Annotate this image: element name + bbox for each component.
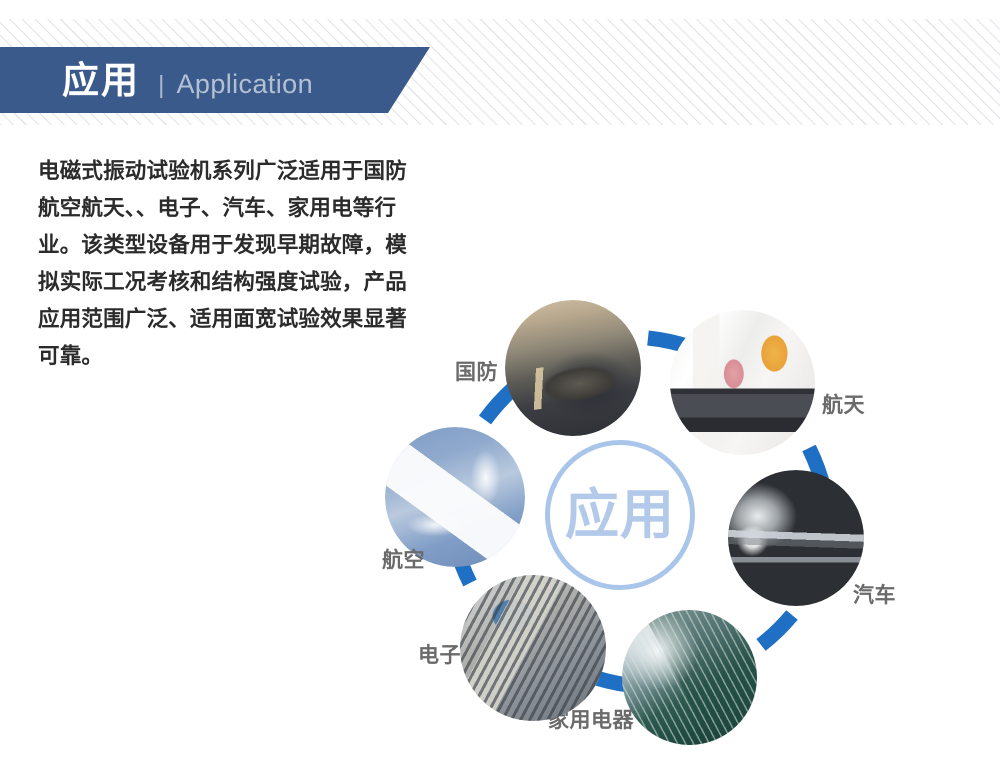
satellite-solar-panel-photo bbox=[460, 575, 606, 721]
diagram-node-label-electron: 电子 bbox=[418, 645, 461, 666]
intro-line: 航空航天、、电子、汽车、家用电等行 bbox=[38, 190, 428, 227]
diagram-node-label-auto: 汽车 bbox=[853, 585, 896, 606]
diagram-center-ring: 应用 bbox=[545, 440, 695, 590]
fighter-jet-on-carrier-photo bbox=[505, 300, 641, 436]
page-title: 应用 bbox=[62, 62, 140, 99]
car-front-headlight-photo bbox=[728, 470, 864, 606]
diagram-node-aerospace[interactable] bbox=[670, 310, 815, 455]
intro-line: 电磁式振动试验机系列广泛适用于国防 bbox=[38, 153, 428, 190]
diagram-node-label-defense: 国防 bbox=[455, 362, 498, 383]
intro-line: 业。该类型设备用于发现早期故障，模 bbox=[38, 227, 428, 264]
banner-text-group: 应用 | Application bbox=[62, 62, 313, 99]
diagram-node-aviation[interactable] bbox=[385, 427, 525, 567]
diagram-center-label: 应用 bbox=[565, 488, 675, 542]
application-section-page: 应用 | Application 电磁式振动试验机系列广泛适用于国防 航空航天、… bbox=[0, 0, 1000, 780]
section-header-banner: 应用 | Application bbox=[0, 47, 430, 113]
diagram-node-appliance[interactable] bbox=[622, 610, 757, 745]
diagram-node-label-aerospace: 航天 bbox=[822, 395, 865, 416]
passenger-airliner-photo bbox=[385, 427, 525, 567]
application-circle-diagram: 应用 国防 航天 汽车 家用电器 电子 航空 bbox=[360, 285, 920, 775]
diagram-node-electron[interactable] bbox=[460, 575, 606, 721]
connector-arc-auto-appliance bbox=[761, 615, 792, 645]
diagram-node-defense[interactable] bbox=[505, 300, 641, 436]
diagram-node-auto[interactable] bbox=[728, 470, 864, 606]
circuit-board-hand-photo bbox=[622, 610, 757, 745]
page-title-english: Application bbox=[177, 71, 314, 98]
title-divider: | bbox=[158, 73, 165, 98]
diagram-node-label-aviation: 航空 bbox=[382, 550, 425, 571]
kitchen-appliances-photo bbox=[670, 310, 815, 455]
